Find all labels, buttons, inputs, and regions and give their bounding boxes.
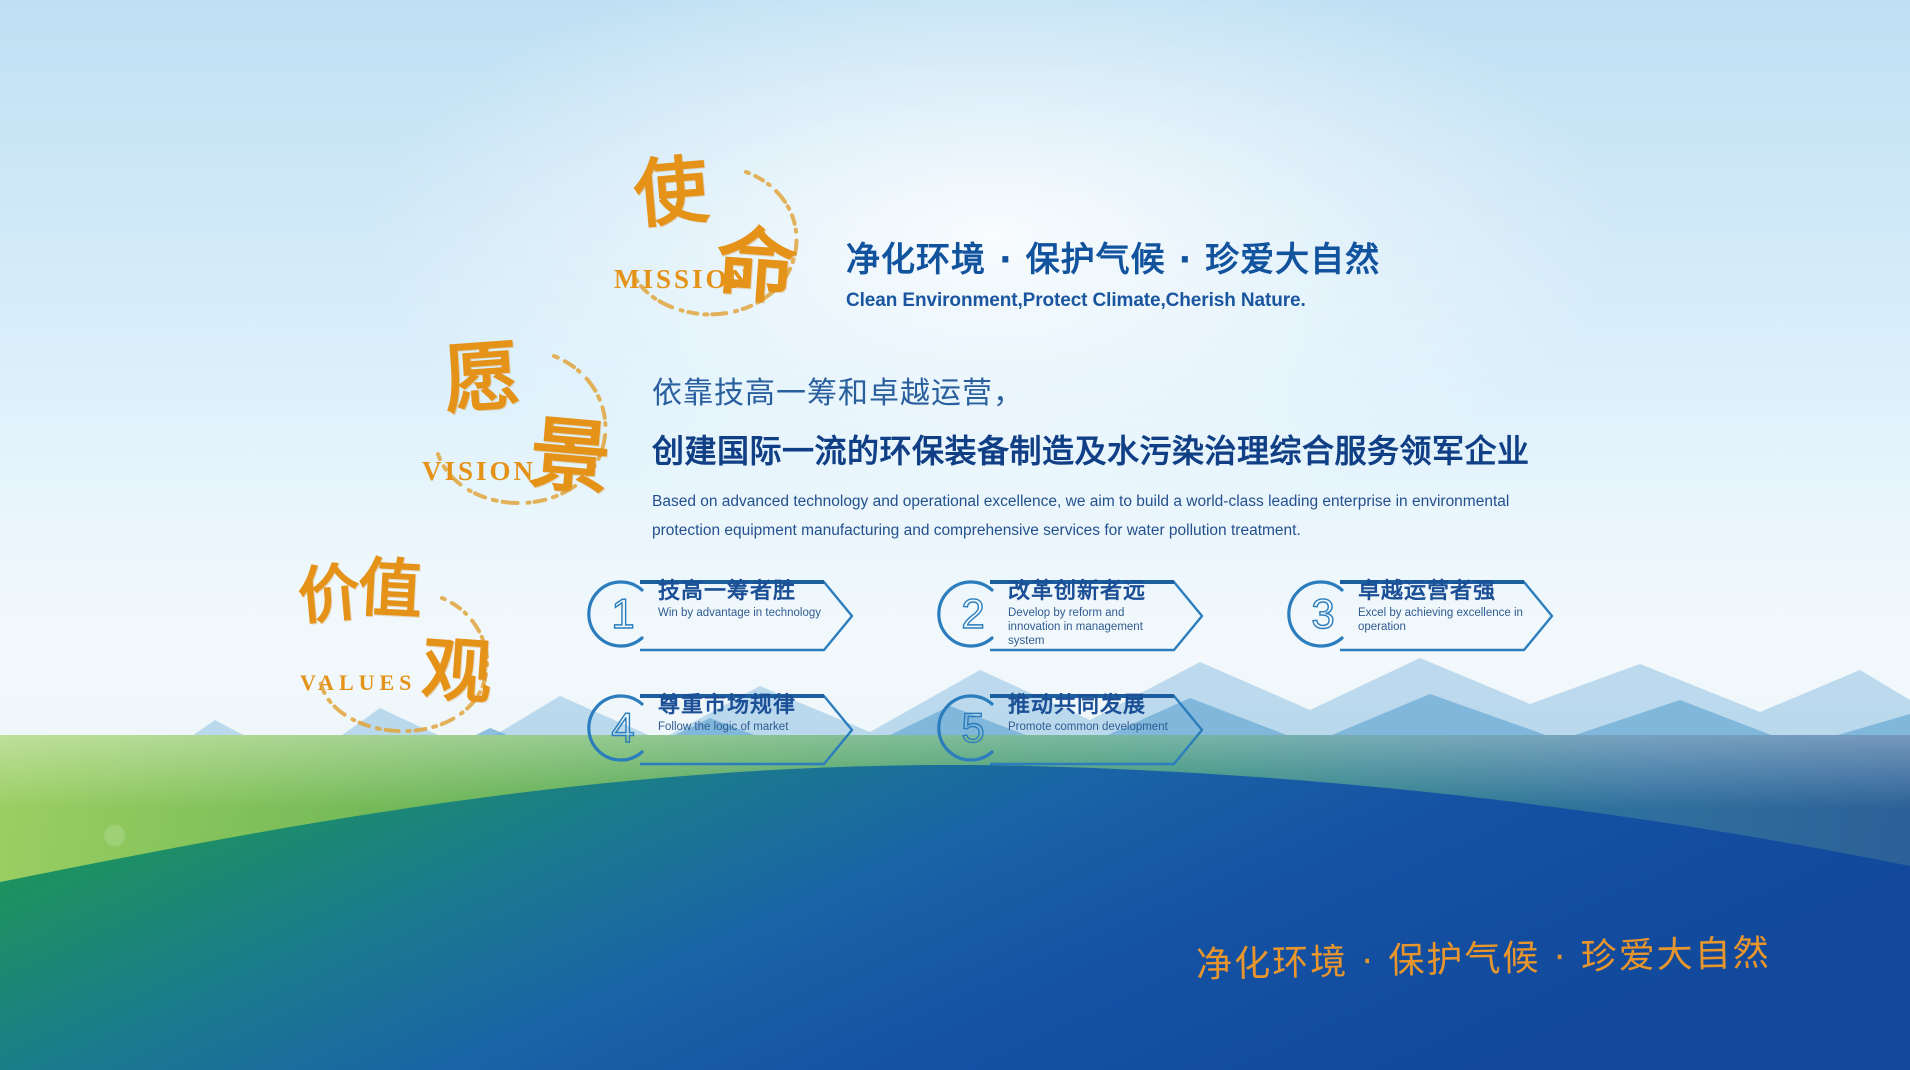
value-card-1[interactable]: 1 技高一筹者胜 Win by advantage in technology xyxy=(582,572,854,656)
vision-text-block: 依靠技高一筹和卓越运营， 创建国际一流的环保装备制造及水污染治理综合服务领军企业… xyxy=(652,368,1532,545)
values-badge-label: VALUES xyxy=(300,670,416,696)
mission-badge-label: MISSION xyxy=(614,264,752,295)
footer-slogan: 净化环境 · 保护气候 · 珍爱大自然 xyxy=(1196,924,1772,988)
value-card-5[interactable]: 5 推动共同发展 Promote common development xyxy=(932,686,1204,770)
vision-line-2: 创建国际一流的环保装备制造及水污染治理综合服务领军企业 xyxy=(652,426,1532,472)
value-card-text: 推动共同发展 Promote common development xyxy=(1008,693,1178,734)
vision-description-en: Based on advanced technology and operati… xyxy=(652,488,1532,545)
vision-badge-char-1: 愿 xyxy=(441,337,522,418)
mission-badge-char-1: 使 xyxy=(631,153,711,233)
value-card-title-en: Develop by reform and innovation in mana… xyxy=(1008,606,1178,648)
value-card-title-zh: 尊重市场规律 xyxy=(658,693,828,718)
value-card-title-zh: 技高一筹者胜 xyxy=(658,579,828,604)
value-card-title-en: Follow the logic of market xyxy=(658,720,828,734)
value-card-title-en: Promote common development xyxy=(1008,720,1178,734)
mission-headline-zh: 净化环境 · 保护气候 · 珍爱大自然 xyxy=(846,232,1380,281)
value-card-text: 改革创新者远 Develop by reform and innovation … xyxy=(1008,579,1178,648)
mission-text-block: 净化环境 · 保护气候 · 珍爱大自然 Clean Environment,Pr… xyxy=(846,232,1380,312)
value-card-3[interactable]: 3 卓越运营者强 Excel by achieving excellence i… xyxy=(1282,572,1554,656)
value-card-4[interactable]: 4 尊重市场规律 Follow the logic of market xyxy=(582,686,854,770)
mission-headline-en: Clean Environment,Protect Climate,Cheris… xyxy=(846,290,1380,312)
value-card-title-zh: 推动共同发展 xyxy=(1008,693,1178,718)
vision-line-1: 依靠技高一筹和卓越运营， xyxy=(652,368,1532,412)
value-card-2[interactable]: 2 改革创新者远 Develop by reform and innovatio… xyxy=(932,572,1204,656)
value-card-title-zh: 改革创新者远 xyxy=(1008,579,1178,604)
value-card-title-en: Win by advantage in technology xyxy=(658,606,828,620)
value-card-title-zh: 卓越运营者强 xyxy=(1358,579,1528,604)
value-card-text: 技高一筹者胜 Win by advantage in technology xyxy=(658,579,828,620)
mission-calligraphy-badge: 使 命 MISSION xyxy=(608,150,828,330)
value-card-title-en: Excel by achieving excellence in operati… xyxy=(1358,606,1528,634)
vision-badge-char-2: 景 xyxy=(527,413,614,500)
values-calligraphy-badge: 价 值 观 VALUES xyxy=(296,558,526,738)
value-card-text: 卓越运营者强 Excel by achieving excellence in … xyxy=(1358,579,1528,634)
values-badge-char-3: 观 xyxy=(420,634,495,709)
vision-calligraphy-badge: 愿 景 VISION xyxy=(420,338,640,518)
vision-badge-label: VISION xyxy=(422,456,536,487)
values-badge-char-2: 值 xyxy=(356,556,423,623)
value-card-text: 尊重市场规律 Follow the logic of market xyxy=(658,693,828,734)
values-badge-char-1: 价 xyxy=(295,561,362,628)
